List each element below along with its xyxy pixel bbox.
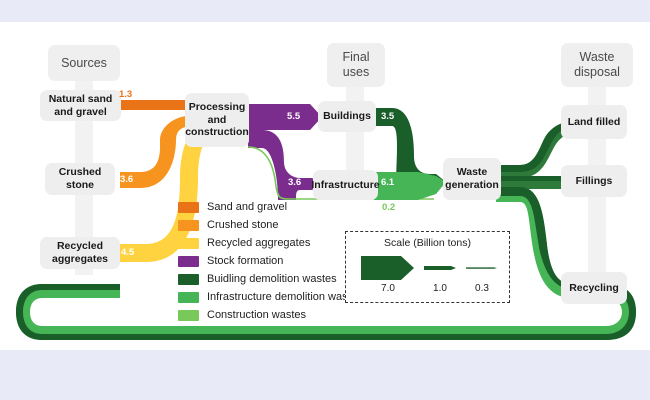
flow-label-processing-to-infrastructure: 3.6 <box>288 178 301 188</box>
node-buildings-label: Buildings <box>323 110 371 123</box>
legend-swatch-stock-formation <box>178 256 199 267</box>
flow-label-crushed-stone: 3.6 <box>120 175 133 185</box>
legend-swatch-recycled-aggregates <box>178 238 199 249</box>
node-natural-sand-and-gravel-label: Natural sand and gravel <box>43 93 118 119</box>
column-header-waste-disposal: Waste disposal <box>561 43 633 87</box>
legend-item: Infrastructure demolition wastes <box>178 288 362 306</box>
legend-swatch-sand-and-gravel <box>178 202 199 213</box>
scale-tick-1: 1.0 <box>420 283 460 294</box>
legend-label-infrastructure-demolition-wastes: Infrastructure demolition wastes <box>207 291 362 303</box>
column-header-final-uses-line1: Final <box>342 50 369 65</box>
scale-bar-1 <box>424 266 456 270</box>
legend-label-sand-and-gravel: Sand and gravel <box>207 201 287 213</box>
legend-swatch-crushed-stone <box>178 220 199 231</box>
legend-item: Sand and gravel <box>178 198 362 216</box>
flow-label-natural-sand: 1.3 <box>119 90 132 100</box>
flow-label-processing-to-buildings: 5.5 <box>287 112 300 122</box>
node-recycled-aggregates-label: Recycled aggregates <box>43 240 117 266</box>
legend-item: Construction wastes <box>178 306 362 324</box>
node-land-filled[interactable]: Land filled <box>561 105 627 139</box>
legend-swatch-construction-wastes <box>178 310 199 321</box>
legend-item: Recycled aggregates <box>178 234 362 252</box>
legend-label-crushed-stone: Crushed stone <box>207 219 279 231</box>
legend-swatch-infrastructure-demolition-wastes <box>178 292 199 303</box>
node-crushed-stone[interactable]: Crushed stone <box>45 163 115 195</box>
flow-label-construction-wastes: 0.2 <box>382 203 395 213</box>
flow-label-infrastructure-to-waste: 6.1 <box>381 178 394 188</box>
column-header-final-uses-line2: uses <box>343 65 369 80</box>
node-recycled-aggregates[interactable]: Recycled aggregates <box>40 237 120 269</box>
column-header-sources-label: Sources <box>61 56 107 71</box>
legend-label-stock-formation: Stock formation <box>207 255 283 267</box>
flow-label-buildings-to-waste: 3.5 <box>381 112 394 122</box>
node-fillings-label: Fillings <box>576 175 613 188</box>
node-land-filled-label: Land filled <box>568 116 621 129</box>
node-infrastructure[interactable]: Infrastructure <box>313 170 378 200</box>
column-header-waste-disposal-line2: disposal <box>574 65 620 80</box>
node-waste-generation-label: Waste generation <box>445 166 499 192</box>
legend-item: Crushed stone <box>178 216 362 234</box>
node-natural-sand-and-gravel[interactable]: Natural sand and gravel <box>40 90 121 121</box>
scale-tick-7: 7.0 <box>368 283 408 294</box>
legend-swatch-building-demolition-wastes <box>178 274 199 285</box>
sankey-figure: Sources Final uses Waste disposal Natura… <box>0 0 650 400</box>
scale-legend: Scale (Billion tons) 7.0 1.0 0.3 <box>345 231 510 303</box>
node-buildings[interactable]: Buildings <box>318 101 376 132</box>
legend-label-recycled-aggregates: Recycled aggregates <box>207 237 310 249</box>
node-fillings[interactable]: Fillings <box>561 165 627 197</box>
column-header-waste-disposal-line1: Waste <box>580 50 615 65</box>
flow-label-recycled-aggregates: 4.5 <box>121 248 134 258</box>
node-recycling-label: Recycling <box>569 282 619 295</box>
node-processing-and-construction[interactable]: Processing and construction <box>185 93 249 147</box>
node-recycling[interactable]: Recycling <box>561 272 627 304</box>
legend: Sand and gravel Crushed stone Recycled a… <box>178 198 362 324</box>
legend-label-construction-wastes: Construction wastes <box>207 309 306 321</box>
node-processing-and-construction-label: Processing and construction <box>185 101 249 139</box>
node-infrastructure-label: Infrastructure <box>311 179 379 192</box>
scale-bar-03 <box>466 267 497 268</box>
scale-bar-7 <box>361 256 414 280</box>
node-waste-generation[interactable]: Waste generation <box>443 158 501 200</box>
scale-tick-03: 0.3 <box>462 283 502 294</box>
flow-processing-to-buildings <box>248 104 322 130</box>
node-crushed-stone-label: Crushed stone <box>48 166 112 192</box>
legend-item: Buidling demolition wastes <box>178 270 362 288</box>
legend-item: Stock formation <box>178 252 362 270</box>
column-header-final-uses: Final uses <box>327 43 385 87</box>
column-header-sources: Sources <box>48 45 120 81</box>
legend-label-building-demolition-wastes: Buidling demolition wastes <box>207 273 337 285</box>
